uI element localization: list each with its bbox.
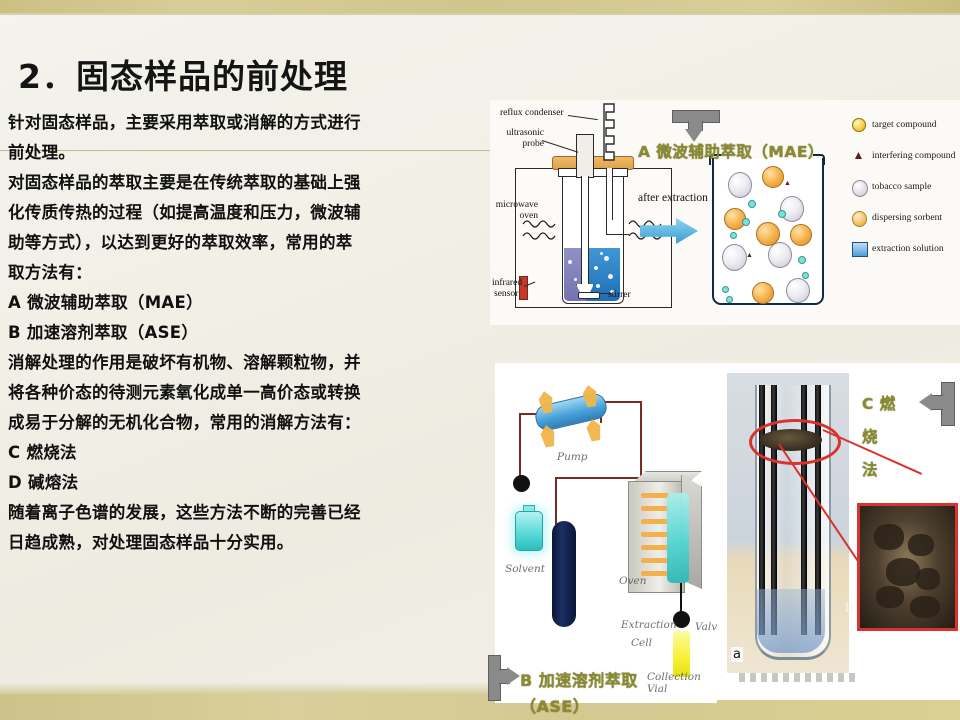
label-ultrasonic-probe-l1: ultrasonic [496, 128, 544, 139]
body-line: 消解处理的作用是破坏有机物、溶解颗粒物，并 [8, 348, 478, 378]
dispersing-sorbent-particle [762, 166, 784, 188]
ash-chunk [908, 534, 934, 556]
label-infrared-sensor-l1: infrared [492, 278, 522, 289]
label-extraction-cell-l1: Extraction [621, 619, 677, 631]
body-line: 成易于分解的无机化合物，常用的消解方法有： [8, 408, 478, 438]
slide-canvas: 2．固态样品的前处理 针对固态样品，主要采用萃取或消解的方式进行 前处理。 对固… [0, 0, 960, 720]
body-line: 随着离子色谱的发展，这些方法不断的完善已经 [8, 498, 478, 528]
method-item-a: A 微波辅助萃取（MAE） [8, 288, 478, 318]
label-ultrasonic-probe-l2: probe [496, 139, 544, 150]
microwave-wave-icon [522, 230, 562, 242]
condenser-stem [606, 168, 613, 220]
dispersing-sorbent-icon [852, 211, 867, 227]
legend-row: dispersing sorbent [850, 209, 960, 240]
tubing [555, 477, 557, 525]
photo-label-b: b [843, 601, 855, 616]
legend-row: target compound [850, 116, 960, 147]
target-compound-particle [722, 286, 729, 293]
interfering-compound-particle: ▲ [746, 252, 753, 259]
ase-caption-line2: （ASE） [520, 694, 638, 720]
tobacco-sample-particle [768, 242, 792, 268]
top-accent-band [0, 0, 960, 13]
page-title: 2．固态样品的前处理 [18, 50, 478, 98]
bubble [594, 266, 598, 270]
body-line: 前处理。 [8, 138, 478, 168]
target-compound-icon [852, 118, 866, 132]
tubing [555, 477, 642, 479]
combustion-caption-line1: C 燃烧 [862, 388, 910, 454]
absorption-liquid [757, 589, 825, 653]
bubble [568, 260, 572, 264]
extraction-cell-icon [667, 493, 689, 583]
tobacco-sample-particle [728, 172, 752, 198]
combustion-photo-b-closeup [857, 503, 958, 631]
legend-label: interfering compound [872, 150, 955, 161]
legend-label: target compound [872, 119, 937, 130]
method-item-c: C 燃烧法 [8, 438, 478, 468]
dispersing-sorbent-particle [756, 222, 780, 246]
solvent-bottle-icon [515, 511, 543, 551]
top-accent-band-edge [0, 13, 960, 15]
legend-row: ▲ interfering compound [850, 147, 960, 178]
ultrasonic-probe-stem [581, 176, 589, 286]
tubing [519, 413, 521, 481]
mae-callout-arrow-icon [672, 110, 720, 142]
extraction-solution-icon [852, 242, 868, 257]
ase-caption: B 加速溶剂萃取 （ASE） [520, 668, 638, 720]
bubble [574, 278, 577, 281]
method-item-b: B 加速溶剂萃取（ASE） [8, 318, 478, 348]
ase-callout-arrow-icon [488, 655, 522, 701]
tobacco-sample-particle [722, 244, 747, 271]
target-compound-particle [730, 232, 737, 239]
target-compound-particle [802, 272, 809, 279]
legend-row: extraction solution [850, 240, 960, 271]
ash-chunk [876, 586, 904, 608]
body-line: 化传质传热的过程（如提高温度和压力，微波辅 [8, 198, 478, 228]
label-oven: Oven [619, 575, 647, 587]
ash-chunk [886, 558, 920, 586]
combustion-callout-arrow-icon [915, 382, 960, 424]
bubble [596, 284, 600, 288]
target-compound-particle [778, 210, 786, 218]
target-compound-particle [742, 218, 750, 226]
label-microwave-oven-l1: microwave [490, 200, 538, 211]
body-line: 助等方式），以达到更好的萃取效率，常用的萃 [8, 228, 478, 258]
tubing [600, 401, 642, 403]
zoom-callout-ellipse [749, 419, 841, 465]
combustion-caption: C 燃烧 法 [862, 388, 910, 487]
label-collection-vial: Collection Vial [647, 671, 717, 695]
ash-chunk [910, 596, 940, 618]
legend-label: tobacco sample [872, 181, 931, 192]
label-pump: Pump [557, 451, 588, 463]
label-microwave-oven-l2: oven [490, 211, 538, 222]
leader-line [542, 140, 578, 153]
legend-label: extraction solution [872, 243, 944, 254]
label-solvent: Solvent [505, 563, 545, 575]
target-compound-particle [726, 296, 733, 303]
legend-label: dispersing sorbent [872, 212, 942, 223]
leader-line [600, 293, 612, 294]
interfering-compound-particle: ▲ [784, 180, 791, 187]
tubing [640, 401, 642, 479]
bubble [608, 274, 613, 279]
label-valve: Valve [695, 621, 717, 633]
figure-legend: target compound ▲ interfering compound t… [850, 116, 960, 271]
mae-caption: A 微波辅助萃取（MAE） [638, 140, 824, 162]
bubble [604, 256, 609, 261]
legend-row: tobacco sample [850, 178, 960, 209]
target-compound-particle [748, 200, 756, 208]
heating-coil-icon [641, 491, 669, 583]
label-extraction-cell-l2: Cell [631, 637, 652, 649]
reflux-condenser-icon [598, 102, 620, 172]
leader-line [568, 115, 598, 120]
ultrasonic-probe-head [576, 134, 594, 178]
tobacco-sample-particle [786, 278, 810, 303]
interfering-compound-icon: ▲ [852, 149, 865, 162]
tobacco-sample-particle [780, 196, 804, 222]
body-line: 针对固态样品，主要采用萃取或消解的方式进行 [8, 108, 478, 138]
figure-mae: reflux condenser ultrasonic probe microw… [490, 100, 960, 325]
combustion-caption-line2: 法 [862, 454, 910, 487]
body-line: 日趋成熟，对处理固态样品十分实用。 [8, 528, 478, 558]
ash-chunk [916, 568, 940, 590]
label-after-extraction: after extraction [638, 192, 708, 204]
label-stirrer: stirrer [608, 290, 631, 301]
body-line: 对固态样品的萃取主要是在传统萃取的基础上强 [8, 168, 478, 198]
method-item-d: D 碱熔法 [8, 468, 478, 498]
label-reflux-condenser: reflux condenser [500, 108, 564, 119]
stirrer-bar-icon [578, 292, 600, 299]
body-line: 取方法有： [8, 258, 478, 288]
ash-chunk [874, 524, 904, 550]
nitrogen-cylinder-icon [552, 521, 576, 627]
figure-ase: Pump Solvent Oven Extraction Cell Collec… [495, 363, 717, 703]
bubble [600, 252, 603, 255]
dispersing-sorbent-particle [752, 282, 774, 304]
photo-caption-blur [739, 673, 859, 682]
target-compound-particle [798, 256, 806, 264]
photo-label-a: a [731, 647, 743, 662]
label-infrared-sensor-l2: sensor [494, 289, 518, 300]
tobacco-sample-icon [852, 180, 868, 197]
body-text-column: 针对固态样品，主要采用萃取或消解的方式进行 前处理。 对固态样品的萃取主要是在传… [8, 108, 478, 558]
valve-icon [513, 475, 530, 492]
dispersing-sorbent-particle [790, 224, 812, 246]
ase-caption-line1: B 加速溶剂萃取 [520, 668, 638, 694]
body-line: 将各种价态的待测元素氧化成单一高价态或转换 [8, 378, 478, 408]
condenser-outlet-bend [606, 218, 629, 235]
